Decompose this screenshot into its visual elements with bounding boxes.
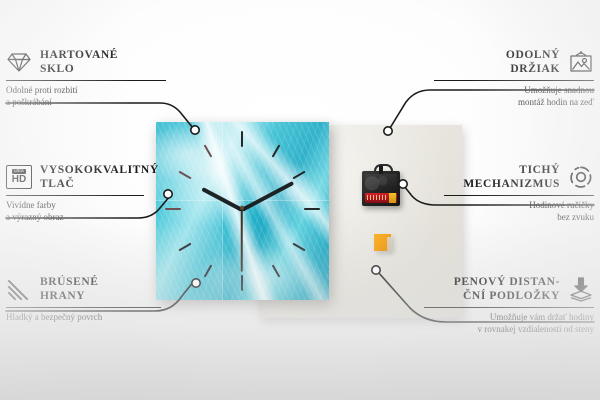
product-photo [140, 106, 462, 318]
feature-description: Umožňuje snadnou montáž hodin na zeď [434, 85, 594, 108]
feature-description: Odolné proti rozbití a poškrábání [6, 85, 166, 108]
feature-description: Hladký a bezpečný povrch [6, 312, 161, 324]
feature-desc-line2: a poškrábání [6, 97, 166, 109]
feature-foam-pads: PENOVÝ DISTAN- ČNÍ PODLOŽKY Umožňuje vám… [424, 275, 594, 335]
feature-desc-line1: Odolné proti rozbití [6, 85, 166, 97]
gear-icon [568, 164, 594, 190]
feature-desc-line1: Umožňuje snadnou [434, 85, 594, 97]
feature-desc-line2: a výrazný obraz [6, 212, 144, 224]
feature-title-line2: SKLO [40, 62, 118, 76]
feature-description: Vivídne farby a výrazný obraz [6, 200, 144, 223]
feature-description: Umožňuje vám držať hodiny v rovnakej vzd… [424, 312, 594, 335]
diamond-icon [6, 49, 32, 75]
feature-title-line2: ČNÍ PODLOŽKY [454, 289, 560, 303]
clock-center-pin [240, 206, 244, 210]
feature-title-line2: HRANY [40, 289, 99, 303]
product-infographic: HARTOVANÉ SKLO Odolné proti rozbití a po… [0, 0, 600, 400]
feature-ground-edges: BRÚSENÉ HRANY Hladký a bezpečný povrch [6, 275, 161, 324]
badge-hd-label: HD [12, 175, 26, 185]
glass-clock-face [156, 122, 329, 300]
feature-divider [434, 80, 594, 81]
feature-desc-line1: Vivídne farby [6, 200, 144, 212]
feature-title-line1: PENOVÝ DISTAN- [454, 275, 560, 289]
feature-desc-line2: bez zvuku [444, 212, 594, 224]
feature-hd-print: ultra HD VYSOKOKVALITNÝ TLAČ Vivídne far… [6, 163, 144, 223]
foam-distance-pad [374, 234, 391, 251]
battery-positive-terminal [389, 193, 396, 203]
feature-title-line2: DRŽIAK [506, 62, 560, 76]
feature-description: Hodinové ručičky bez zvuku [444, 200, 594, 223]
feature-divider [424, 307, 594, 308]
clock-tick-6 [241, 275, 243, 291]
glass-seam-vertical [222, 122, 223, 300]
ultra-hd-badge-icon: ultra HD [6, 164, 32, 190]
feature-divider [6, 80, 166, 81]
clock-tick-3 [304, 208, 320, 210]
diagonal-lines-icon [6, 276, 32, 302]
clock-mechanism [362, 164, 400, 208]
feature-tempered-glass: HARTOVANÉ SKLO Odolné proti rozbití a po… [6, 48, 166, 108]
feature-silent-mechanism: TICHÝ MECHANIZMUS Hodinové ručičky bez z… [444, 163, 594, 223]
feature-desc-line2: v rovnakej vzdialenosti od steny [424, 324, 594, 336]
feature-title-line1: HARTOVANÉ [40, 48, 118, 62]
picture-frame-icon [568, 49, 594, 75]
feature-title-line2: TLAČ [40, 177, 159, 191]
feature-desc-line1: Umožňuje vám držať hodiny [424, 312, 594, 324]
battery [365, 193, 397, 203]
feature-divider [444, 195, 594, 196]
feature-title-line1: BRÚSENÉ [40, 275, 99, 289]
glass-seam-horizontal [156, 200, 329, 201]
feature-desc-line2: montáž hodin na zeď [434, 97, 594, 109]
feature-title-line1: VYSOKOKVALITNÝ [40, 163, 159, 177]
feature-divider [6, 195, 144, 196]
mechanism-shaft [379, 166, 383, 174]
clock-tick-12 [241, 131, 243, 147]
feature-divider [6, 307, 161, 308]
mechanism-embossing [365, 174, 397, 191]
feature-title-line1: ODOLNÝ [506, 48, 560, 62]
clock-tick-9 [165, 208, 181, 210]
feature-title-line2: MECHANIZMUS [463, 177, 560, 191]
feature-desc-line1: Hodinové ručičky [444, 200, 594, 212]
feature-durable-hanger: ODOLNÝ DRŽIAK Umožňuje snadnou montáž h [434, 48, 594, 108]
mechanism-body [362, 171, 400, 206]
feature-title-line1: TICHÝ [463, 163, 560, 177]
feature-desc-line1: Hladký a bezpečný povrch [6, 312, 161, 324]
battery-label [367, 195, 387, 200]
clock-second-hand [241, 210, 243, 272]
download-layers-icon [568, 276, 594, 302]
